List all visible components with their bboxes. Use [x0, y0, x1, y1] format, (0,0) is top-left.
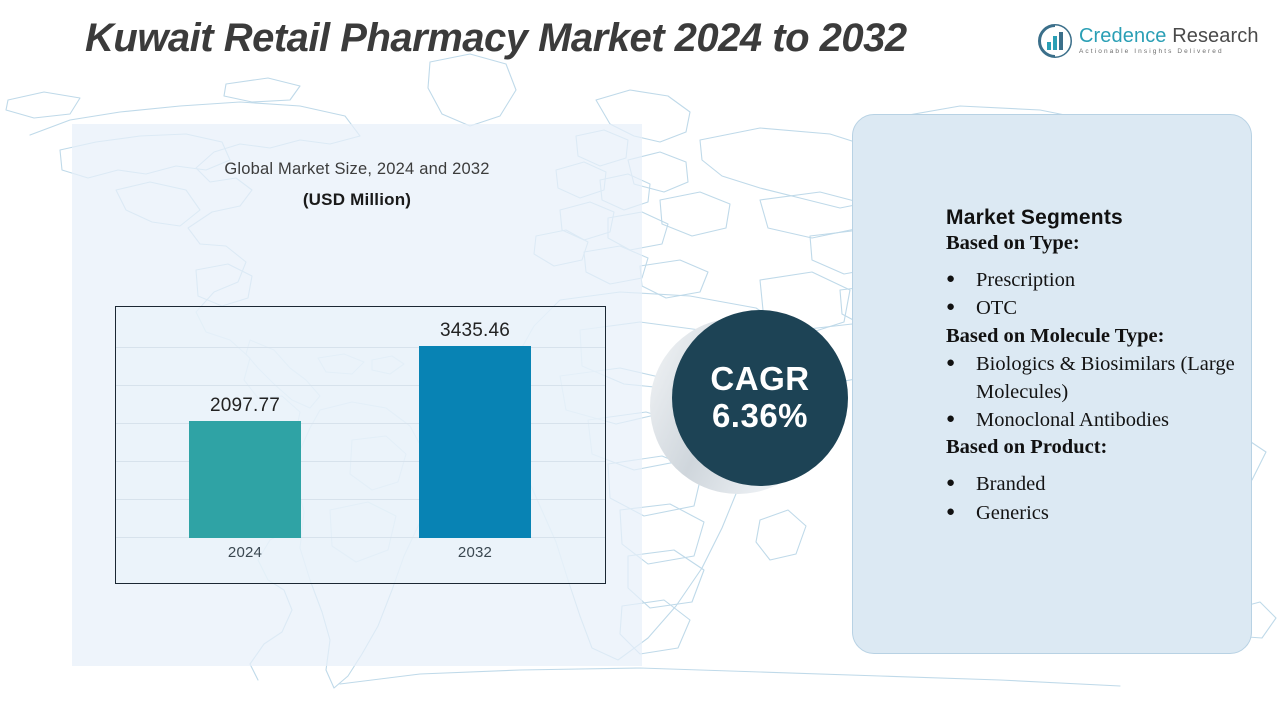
segment-item-list: ●Biologics & Biosimilars (Large Molecule… — [946, 350, 1246, 435]
segment-group-heading: Based on Type: — [946, 232, 1246, 255]
chart-bar-fill — [189, 421, 301, 538]
bullet-icon: ● — [946, 350, 976, 377]
infographic-page: Kuwait Retail Pharmacy Market 2024 to 20… — [0, 0, 1280, 720]
segment-item-list: ●Prescription●OTC — [946, 266, 1246, 323]
logo-brand-secondary: Research — [1167, 25, 1259, 47]
chart-caption-units: (USD Million) — [72, 190, 642, 210]
segment-list-item: ●Monoclonal Antibodies — [946, 406, 1246, 434]
chart-category-label: 2032 — [389, 544, 561, 561]
bar-chart: 2097.7720243435.462032 — [115, 306, 606, 584]
logo-brand-primary: Credence — [1079, 25, 1167, 47]
cagr-label: CAGR — [710, 361, 809, 397]
segment-item-label: OTC — [976, 294, 1246, 322]
chart-bar-value-label: 2097.77 — [159, 395, 331, 417]
market-segments-content: Market Segments Based on Type:●Prescript… — [946, 206, 1246, 527]
logo-wordmark: Credence Research — [1079, 26, 1259, 46]
cagr-badge: CAGR 6.36% — [650, 310, 862, 500]
segment-item-label: Branded — [976, 470, 1246, 498]
segment-item-label: Biologics & Biosimilars (Large Molecules… — [976, 350, 1246, 407]
segment-list-item: ●OTC — [946, 294, 1246, 322]
segment-item-label: Generics — [976, 499, 1246, 527]
logo-tagline: Actionable Insights Delivered — [1079, 49, 1259, 56]
segment-group-heading: Based on Molecule Type: — [946, 325, 1246, 348]
cagr-circle: CAGR 6.36% — [672, 310, 848, 486]
segment-list-item: ●Generics — [946, 499, 1246, 527]
segment-list-item: ●Biologics & Biosimilars (Large Molecule… — [946, 350, 1246, 407]
market-segments-groups: Based on Type:●Prescription●OTCBased on … — [946, 232, 1246, 527]
chart-plot-area: 2097.7720243435.462032 — [116, 307, 605, 583]
bullet-icon: ● — [946, 470, 976, 497]
bullet-icon: ● — [946, 406, 976, 433]
page-title: Kuwait Retail Pharmacy Market 2024 to 20… — [85, 16, 907, 61]
brand-logo: Credence Research Actionable Insights De… — [1038, 24, 1259, 58]
bullet-icon: ● — [946, 499, 976, 526]
chart-bar: 2097.772024 — [189, 421, 301, 538]
segment-spacer — [946, 461, 1246, 470]
chart-caption-primary: Global Market Size, 2024 and 2032 — [72, 160, 642, 179]
segment-group-heading: Based on Product: — [946, 436, 1246, 459]
segment-list-item: ●Branded — [946, 470, 1246, 498]
chart-category-label: 2024 — [159, 544, 331, 561]
chart-bar: 3435.462032 — [419, 346, 531, 538]
segment-item-label: Prescription — [976, 266, 1246, 294]
segment-item-list: ●Branded●Generics — [946, 470, 1246, 527]
chart-bar-fill — [419, 346, 531, 538]
bullet-icon: ● — [946, 294, 976, 321]
segment-spacer — [946, 257, 1246, 266]
logo-bar-chart-icon — [1038, 24, 1072, 58]
logo-text: Credence Research Actionable Insights De… — [1079, 26, 1259, 56]
chart-bar-value-label: 3435.46 — [389, 320, 561, 342]
segment-list-item: ●Prescription — [946, 266, 1246, 294]
market-segments-title: Market Segments — [946, 206, 1246, 230]
bullet-icon: ● — [946, 266, 976, 293]
segment-item-label: Monoclonal Antibodies — [976, 406, 1246, 434]
cagr-value: 6.36% — [712, 397, 808, 435]
